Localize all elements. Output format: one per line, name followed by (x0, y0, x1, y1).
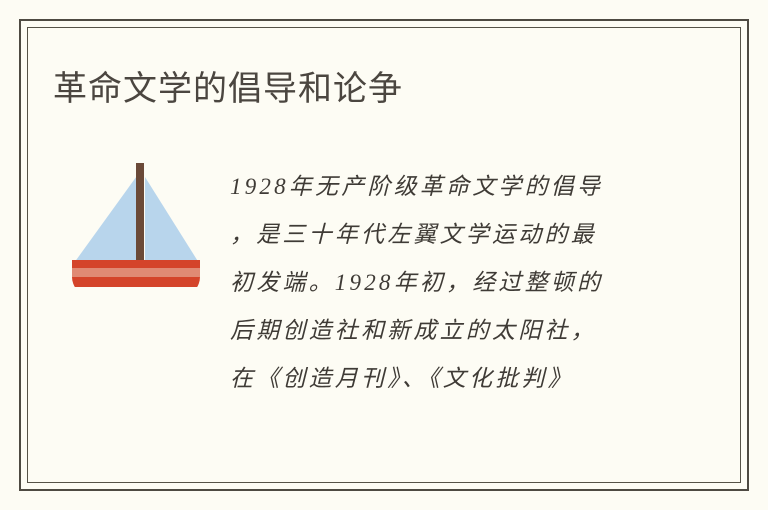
article-line: ，是三十年代左翼文学运动的最 (230, 211, 642, 259)
article-line: 后期创造社和新成立的太阳社， (230, 307, 642, 355)
sailboat-icon (70, 155, 202, 287)
article-line: 初发端。1928年初，经过整顿的 (230, 259, 642, 307)
article-line: 在《创造月刊》、《文化批判》 (230, 355, 642, 403)
article-line: 1928年无产阶级革命文学的倡导 (230, 163, 642, 211)
document-page: 革命文学的倡导和论争 1928年无产阶级革命文学的倡导 ，是三十年代左翼文学运动… (0, 0, 768, 510)
page-title: 革命文学的倡导和论争 (53, 66, 403, 112)
article-body: 1928年无产阶级革命文学的倡导 ，是三十年代左翼文学运动的最 初发端。1928… (230, 163, 642, 403)
